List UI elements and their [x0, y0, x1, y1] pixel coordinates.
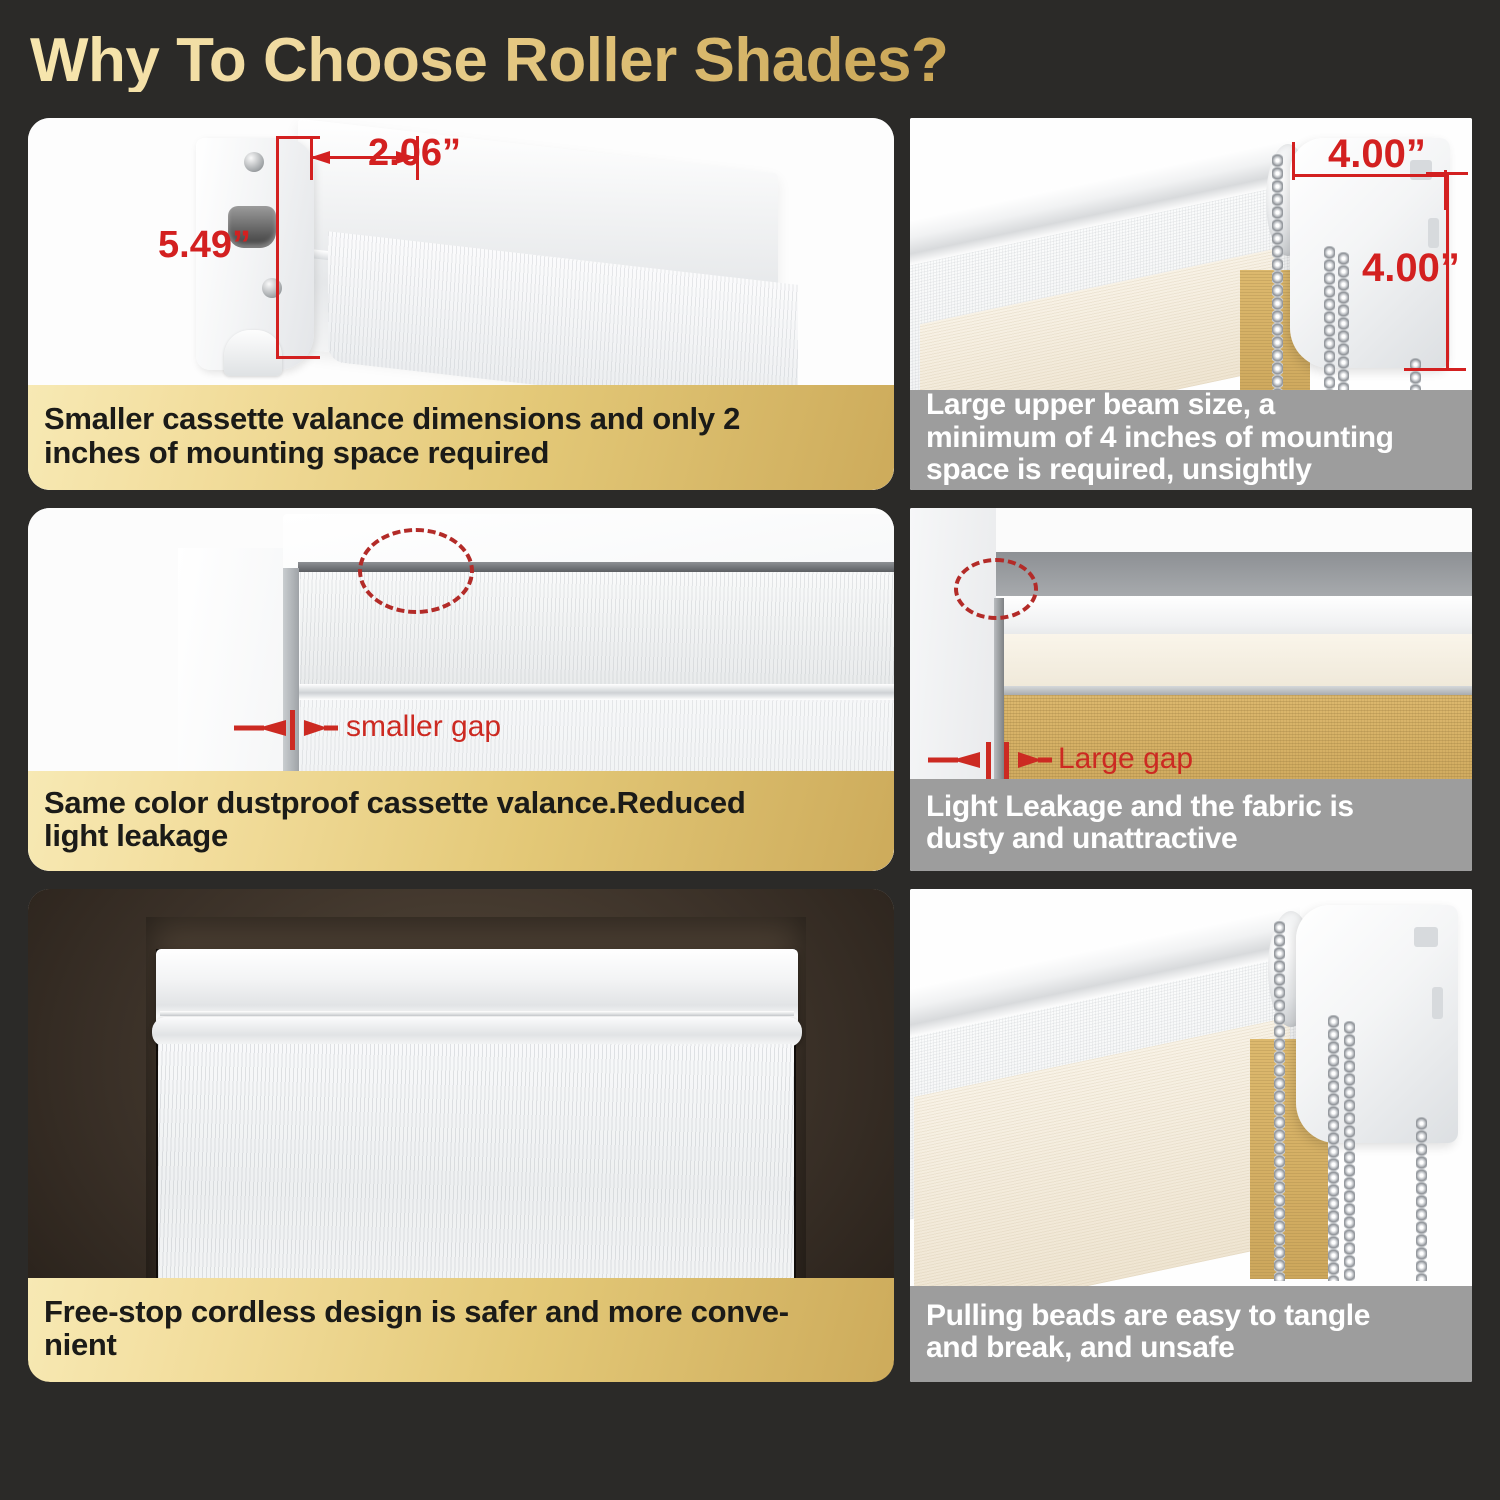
caption-pro-dustproof-valance: Same color dustproof cassette valance.Re…: [28, 771, 894, 871]
caption-line: inches of mounting space required: [44, 436, 878, 469]
page-title-text: Why To Choose Roller Shades?: [30, 30, 948, 92]
caption-line: minimum of 4 inches of mounting: [926, 422, 1456, 454]
caption-line: Pulling beads are easy to tangle: [926, 1300, 1456, 1332]
dim-line-height: [276, 136, 279, 358]
middle-rail: [296, 684, 894, 700]
bead-chain: [1416, 1117, 1427, 1281]
dim-tick-height-bottom: [1404, 368, 1466, 371]
bead-chain: [1344, 1021, 1355, 1281]
caption-line: nient: [44, 1328, 878, 1361]
dim-tick-height-top: [276, 136, 320, 139]
bead-chain: [1324, 246, 1335, 410]
cream-fabric-roll: [1000, 634, 1472, 686]
shade-fabric: [158, 1044, 794, 1306]
bead-chain: [1338, 252, 1349, 410]
panel-con-light-leakage: Large gap Light Leakage and the fabric i…: [910, 508, 1472, 871]
bracket-slot: [1414, 927, 1438, 947]
shadow-band: [996, 552, 1472, 598]
caption-line: Smaller cassette valance dimensions and …: [44, 402, 878, 435]
screw-icon: [262, 278, 282, 298]
caption-line: Large upper beam size, a: [926, 389, 1456, 421]
screw-icon: [244, 152, 264, 172]
dimension-label-width: 2.06”: [368, 132, 461, 175]
dimension-label-height: 4.00”: [1362, 246, 1460, 291]
window-wall: [910, 508, 996, 798]
highlight-circle-icon: [954, 558, 1038, 620]
caption-line: light leakage: [44, 819, 878, 852]
gap-label-large: Large gap: [1058, 742, 1193, 776]
infographic-root: Why To Choose Roller Shades? 2.06”: [0, 0, 1500, 1500]
bead-chain: [1328, 1015, 1339, 1281]
caption-con-light-leakage: Light Leakage and the fabric is dusty an…: [910, 779, 1472, 871]
caption-line: Light Leakage and the fabric is: [926, 791, 1456, 823]
caption-pro-cordless-design: Free-stop cordless design is safer and m…: [28, 1278, 894, 1382]
dimension-label-width: 4.00”: [1328, 132, 1426, 177]
fabric-edge: [998, 686, 1472, 695]
caption-line: Same color dustproof cassette valance.Re…: [44, 786, 878, 819]
cassette-valance: [156, 949, 798, 1021]
mounting-bracket: [224, 330, 282, 376]
bead-chain: [1272, 154, 1283, 410]
dim-tick-height-bottom: [276, 356, 320, 359]
caption-line: dusty and unattractive: [926, 823, 1456, 855]
gap-label-smaller: smaller gap: [346, 710, 501, 744]
panel-pro-cordless-design: Free-stop cordless design is safer and m…: [28, 889, 894, 1382]
panel-pro-dustproof-valance: smaller gap Same color dustproof cassett…: [28, 508, 894, 871]
gap-edge: [994, 598, 1004, 798]
panel-con-upper-beam-size: 4.00” 4.00” Large upper beam size, a min…: [910, 118, 1472, 490]
dim-tick-height-top: [1426, 172, 1468, 175]
caption-con-upper-beam-size: Large upper beam size, a minimum of 4 in…: [910, 390, 1472, 490]
panel-con-pull-beads: Pulling beads are easy to tangle and bre…: [910, 889, 1472, 1382]
panel-pro-cassette-size: 2.06” 5.49” Smaller cassette valance dim…: [28, 118, 894, 490]
caption-con-pull-beads: Pulling beads are easy to tangle and bre…: [910, 1286, 1472, 1382]
caption-line: space is required, unsightly: [926, 454, 1456, 486]
dimension-label-height: 5.49”: [158, 224, 251, 267]
roller-bar: [152, 1017, 802, 1047]
page-title: Why To Choose Roller Shades?: [30, 18, 1470, 104]
caption-line: Free-stop cordless design is safer and m…: [44, 1295, 878, 1328]
caption-pro-cassette-size: Smaller cassette valance dimensions and …: [28, 385, 894, 490]
bead-chain: [1274, 921, 1285, 1281]
caption-line: and break, and unsafe: [926, 1332, 1456, 1364]
bracket-slot: [1432, 987, 1443, 1019]
highlight-circle-icon: [358, 528, 474, 614]
bracket-slot: [1428, 218, 1439, 248]
